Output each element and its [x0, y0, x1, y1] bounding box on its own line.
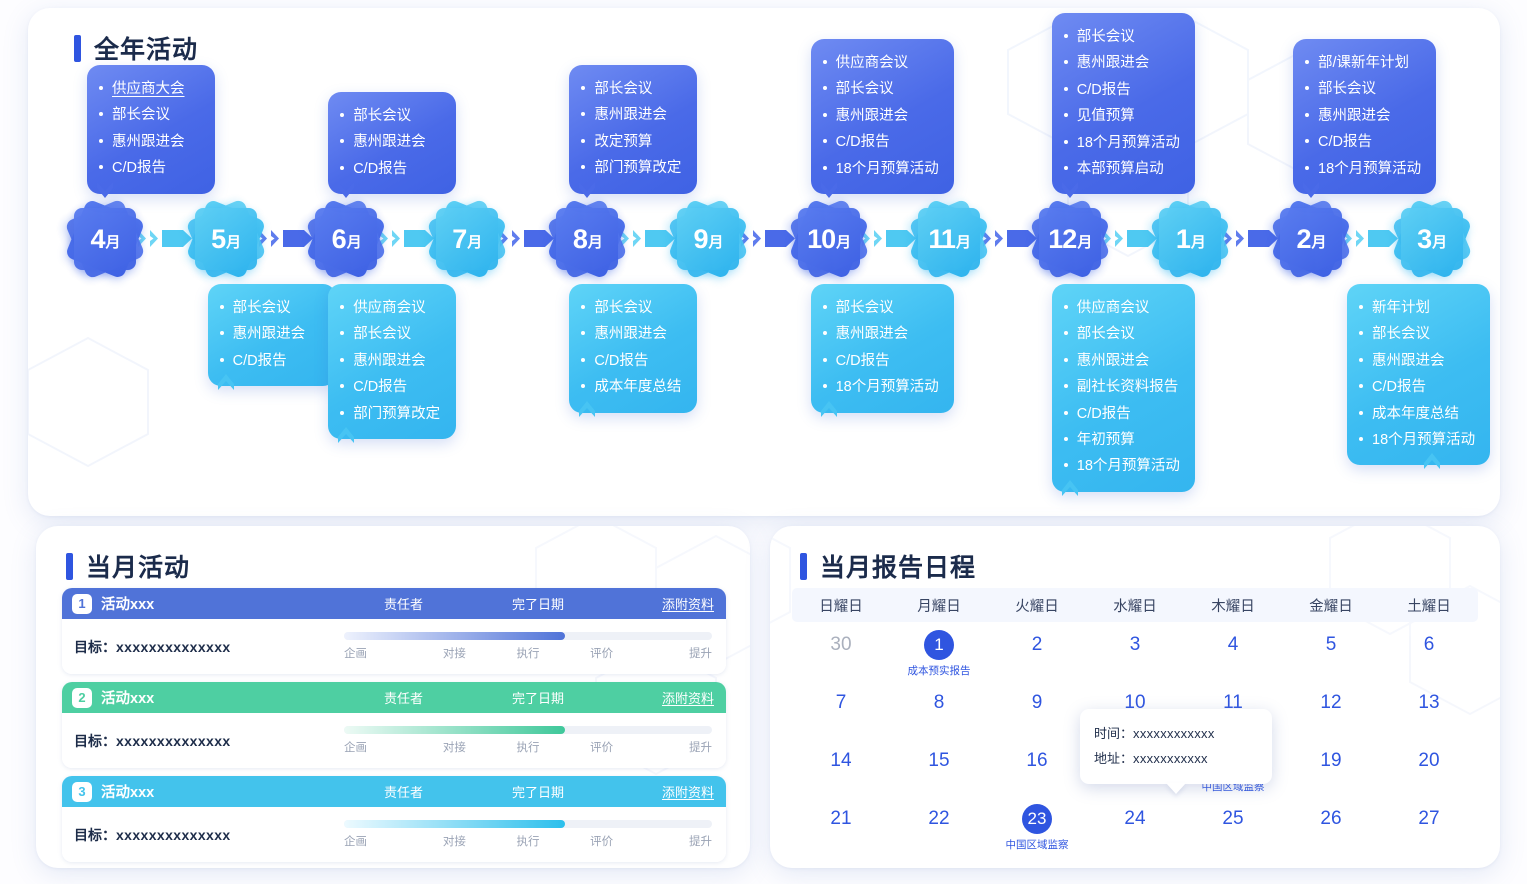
- calendar-day-number: 8: [934, 688, 945, 718]
- calendar-day-number: 9: [1032, 688, 1043, 718]
- timeline-card-item: 部长会议: [820, 76, 939, 102]
- calendar-event-tooltip: 时间：xxxxxxxxxxxx地址：xxxxxxxxxxx: [1080, 709, 1272, 784]
- timeline-card-item: C/D报告: [96, 155, 200, 181]
- calendar-day-cell[interactable]: 24: [1086, 804, 1184, 854]
- badge-month-unit: 月: [1191, 235, 1205, 250]
- timeline-card-item: 惠州跟进会: [1302, 103, 1421, 129]
- badge-month-unit: 月: [467, 235, 481, 250]
- calendar-day-number: 25: [1222, 804, 1243, 834]
- calendar-grid: 301成本预实报告23456789101112131415161718中国区域监…: [792, 630, 1478, 854]
- card-pointer-icon: [1422, 453, 1442, 469]
- progress-fill: [344, 820, 565, 828]
- timeline-month-badge-6[interactable]: 6月: [315, 208, 377, 270]
- timeline-card-item: 部长会议: [1061, 24, 1180, 50]
- activity-row[interactable]: 1活动xxx责任者完了日期添附资料目标：xxxxxxxxxxxxxx企画对接执行…: [62, 588, 726, 674]
- report-calendar-panel: 当月报告日程 日耀日月耀日火耀日水耀日木耀日金耀日土耀日301成本预实报告234…: [770, 526, 1500, 868]
- timeline-card-10-bottom[interactable]: 部长会议惠州跟进会C/D报告18个月预算活动: [811, 284, 954, 413]
- calendar-day-cell[interactable]: 12: [1282, 688, 1380, 738]
- calendar-day-number: 14: [830, 746, 851, 776]
- badge-month-number: 4: [90, 226, 104, 253]
- badge-month-number: 9: [693, 226, 707, 253]
- calendar-day-number: 26: [1320, 804, 1341, 834]
- activity-header: 2活动xxx责任者完了日期添附资料: [62, 682, 726, 713]
- timeline-card-list: 供应商会议部长会议惠州跟进会C/D报告部门预算改定: [337, 295, 441, 427]
- activity-list: 1活动xxx责任者完了日期添附资料目标：xxxxxxxxxxxxxx企画对接执行…: [62, 588, 726, 868]
- timeline-arrow: [1344, 230, 1398, 247]
- timeline-month-badge-4[interactable]: 4月: [74, 208, 136, 270]
- tooltip-tail-icon: [1166, 783, 1186, 794]
- calendar-day-cell[interactable]: 7: [792, 688, 890, 738]
- card-pointer-icon: [95, 182, 115, 198]
- badge-label: 10月: [798, 208, 860, 270]
- timeline-card-item: 见值预算: [1061, 103, 1180, 129]
- month-panel-title-text: 当月活动: [86, 548, 190, 584]
- timeline-card-item: C/D报告: [1356, 374, 1475, 400]
- timeline-card-item: 改定预算: [578, 129, 682, 155]
- calendar-day-number: 19: [1320, 746, 1341, 776]
- weekday-label: 木耀日: [1184, 595, 1282, 616]
- timeline-arrow: [1224, 230, 1278, 247]
- timeline-card-item: 18个月预算活动: [820, 156, 939, 182]
- timeline-arrow: [500, 230, 554, 247]
- timeline-card-10-top[interactable]: 供应商会议部长会议惠州跟进会C/D报告18个月预算活动: [811, 39, 954, 194]
- activity-progress[interactable]: 企画对接执行评价提升: [344, 726, 712, 755]
- title-accent-bar: [800, 553, 807, 580]
- card-pointer-icon: [819, 182, 839, 198]
- card-pointer-icon: [336, 427, 356, 443]
- calendar-day-number: 3: [1130, 630, 1141, 660]
- activity-name: 活动xxx: [101, 781, 154, 802]
- calendar-day-cell[interactable]: 27: [1380, 804, 1478, 854]
- tooltip-address-value: xxxxxxxxxxx: [1133, 746, 1208, 771]
- timeline-month-badge-10[interactable]: 10月: [798, 208, 860, 270]
- timeline-arrow: [621, 230, 675, 247]
- timeline-card-item: 部长会议: [96, 102, 200, 128]
- timeline-month-badge-8[interactable]: 8月: [556, 208, 618, 270]
- calendar-day-cell[interactable]: 4: [1184, 630, 1282, 680]
- timeline-card-8-top[interactable]: 部长会议惠州跟进会改定预算部门预算改定: [569, 65, 697, 194]
- activity-goal: 目标：xxxxxxxxxxxxxx: [74, 731, 231, 751]
- badge-label: 5月: [195, 208, 257, 270]
- calendar-day-number: 7: [836, 688, 847, 718]
- calendar-day-cell[interactable]: 19: [1282, 746, 1380, 796]
- activity-date-column: 完了日期: [512, 594, 662, 613]
- timeline-card-6-bottom[interactable]: 供应商会议部长会议惠州跟进会C/D报告部门预算改定: [328, 284, 456, 439]
- dashboard-root: 全年活动 4月供应商大会部长会议惠州跟进会C/D报告5月部长会议惠州跟进会C/D…: [0, 0, 1527, 884]
- calendar-day-cell[interactable]: 21: [792, 804, 890, 854]
- calendar-day-cell[interactable]: 23中国区域监察: [988, 804, 1086, 854]
- card-pointer-icon: [1060, 182, 1080, 198]
- calendar-day-cell[interactable]: 30: [792, 630, 890, 680]
- calendar-week-row: 212223中国区域监察24252627: [792, 804, 1478, 854]
- badge-month-number: 7: [452, 226, 466, 253]
- card-pointer-icon: [577, 182, 597, 198]
- tooltip-time-value: xxxxxxxxxxxx: [1133, 721, 1215, 746]
- calendar-day-number: 30: [830, 630, 851, 660]
- activity-body: 目标：xxxxxxxxxxxxxx企画对接执行评价提升: [62, 713, 726, 768]
- timeline-card-item: 部长会议: [337, 321, 441, 347]
- timeline-card-item: 惠州跟进会: [820, 321, 939, 347]
- timeline-card-item: 供应商会议: [820, 50, 939, 76]
- timeline-card-item: C/D报告: [578, 348, 682, 374]
- progress-step-label: 评价: [565, 739, 639, 755]
- progress-step-label: 提升: [638, 645, 712, 661]
- timeline-card-list: 新年计划部长会议惠州跟进会C/D报告成本年度总结18个月预算活动: [1356, 295, 1475, 453]
- goal-label: 目标：: [74, 733, 116, 749]
- badge-month-number: 11: [928, 226, 955, 253]
- timeline-card-item: C/D报告: [1061, 401, 1180, 427]
- timeline-card-item: 供应商会议: [1061, 295, 1180, 321]
- badge-label: 6月: [315, 208, 377, 270]
- activity-progress[interactable]: 企画对接执行评价提升: [344, 820, 712, 849]
- timeline-card-item: C/D报告: [217, 348, 321, 374]
- weekday-label: 月耀日: [890, 595, 988, 616]
- timeline-card-2-top[interactable]: 部/课新年计划部长会议惠州跟进会C/D报告18个月预算活动: [1293, 39, 1436, 194]
- timeline-card-item: C/D报告: [1061, 77, 1180, 103]
- activity-goal: 目标：xxxxxxxxxxxxxx: [74, 637, 231, 657]
- badge-label: 8月: [556, 208, 618, 270]
- calendar: 日耀日月耀日火耀日水耀日木耀日金耀日土耀日301成本预实报告2345678910…: [792, 588, 1478, 854]
- timeline-month-badge-1[interactable]: 1月: [1159, 208, 1221, 270]
- activity-body: 目标：xxxxxxxxxxxxxx企画对接执行评价提升: [62, 619, 726, 674]
- calendar-day-cell[interactable]: 16: [988, 746, 1086, 796]
- activity-header: 1活动xxx责任者完了日期添附资料: [62, 588, 726, 619]
- activity-name: 活动xxx: [101, 687, 154, 708]
- timeline-card-item: 部长会议: [1061, 321, 1180, 347]
- timeline-card-item: 部门预算改定: [337, 401, 441, 427]
- tooltip-address-row: 地址：xxxxxxxxxxx: [1094, 746, 1258, 771]
- timeline-card-item: 新年计划: [1356, 295, 1475, 321]
- timeline-card-item: 惠州跟进会: [578, 321, 682, 347]
- timeline-card-item: C/D报告: [820, 129, 939, 155]
- weekday-label: 土耀日: [1380, 595, 1478, 616]
- timeline-card-item: 18个月预算活动: [820, 374, 939, 400]
- card-pointer-icon: [577, 401, 597, 417]
- timeline-card-item: 18个月预算活动: [1061, 130, 1180, 156]
- timeline-card-5-bottom[interactable]: 部长会议惠州跟进会C/D报告: [208, 284, 336, 386]
- weekday-label: 金耀日: [1282, 595, 1380, 616]
- calendar-day-number: 4: [1228, 630, 1239, 660]
- progress-steps: 企画对接执行评价提升: [344, 645, 712, 661]
- activity-index: 2: [72, 688, 92, 708]
- calendar-day-cell[interactable]: 13: [1380, 688, 1478, 738]
- badge-month-unit: 月: [1077, 235, 1091, 250]
- badge-label: 7月: [436, 208, 498, 270]
- activity-body: 目标：xxxxxxxxxxxxxx企画对接执行评价提升: [62, 807, 726, 862]
- timeline-card-item: 部长会议: [820, 295, 939, 321]
- title-accent-bar: [66, 553, 73, 580]
- timeline-month-badge-7[interactable]: 7月: [436, 208, 498, 270]
- badge-month-unit: 月: [709, 235, 723, 250]
- timeline-card-item: 供应商大会: [96, 76, 200, 102]
- calendar-day-number: 22: [928, 804, 949, 834]
- timeline-card-item: 惠州跟进会: [820, 103, 939, 129]
- timeline-card-list: 部长会议惠州跟进会改定预算部门预算改定: [578, 76, 682, 182]
- timeline-card-list: 部长会议惠州跟进会C/D报告: [337, 103, 441, 182]
- timeline-month-badge-12[interactable]: 12月: [1039, 208, 1101, 270]
- calendar-week-row: 301成本预实报告23456: [792, 630, 1478, 680]
- badge-label: 11月: [918, 208, 980, 270]
- badge-month-unit: 月: [588, 235, 602, 250]
- timeline-card-item: 18个月预算活动: [1061, 453, 1180, 479]
- activity-owner-column: 责任者: [384, 688, 512, 707]
- calendar-day-number: 24: [1124, 804, 1145, 834]
- weekday-label: 日耀日: [792, 595, 890, 616]
- timeline-arrow: [1103, 230, 1157, 247]
- timeline-card-item: C/D报告: [337, 374, 441, 400]
- calendar-day-number: 5: [1326, 630, 1337, 660]
- badge-month-number: 2: [1296, 226, 1310, 253]
- calendar-panel-title-text: 当月报告日程: [820, 548, 976, 584]
- timeline-card-list: 供应商大会部长会议惠州跟进会C/D报告: [96, 76, 200, 182]
- badge-month-unit: 月: [956, 235, 970, 250]
- tooltip-time-label: 时间：: [1094, 721, 1133, 746]
- timeline-card-item: 部长会议: [1356, 321, 1475, 347]
- timeline-arrow: [259, 230, 313, 247]
- timeline-card-item: C/D报告: [820, 348, 939, 374]
- badge-label: 12月: [1039, 208, 1101, 270]
- attach-material-link[interactable]: 添附资料: [662, 688, 714, 707]
- timeline-card-6-top[interactable]: 部长会议惠州跟进会C/D报告: [328, 92, 456, 194]
- timeline-card-item: 部长会议: [337, 103, 441, 129]
- badge-month-unit: 月: [1312, 235, 1326, 250]
- progress-track: [344, 820, 712, 828]
- weekday-label: 水耀日: [1086, 595, 1184, 616]
- badge-month-number: 6: [332, 226, 346, 253]
- timeline-card-item: 部门预算改定: [578, 155, 682, 181]
- progress-step-label: 评价: [565, 645, 639, 661]
- badge-label: 4月: [74, 208, 136, 270]
- timeline-card-list: 供应商会议部长会议惠州跟进会副社长资料报告C/D报告年初预算18个月预算活动: [1061, 295, 1180, 480]
- timeline-card-item: 18个月预算活动: [1302, 156, 1421, 182]
- badge-month-unit: 月: [836, 235, 850, 250]
- activity-date-column: 完了日期: [512, 688, 662, 707]
- calendar-day-cell[interactable]: 5: [1282, 630, 1380, 680]
- calendar-day-cell[interactable]: 2: [988, 630, 1086, 680]
- progress-track: [344, 726, 712, 734]
- timeline-month-badge-2[interactable]: 2月: [1280, 208, 1342, 270]
- timeline-card-item: 惠州跟进会: [96, 129, 200, 155]
- badge-label: 9月: [677, 208, 739, 270]
- timeline-card-item: C/D报告: [1302, 129, 1421, 155]
- calendar-day-cell[interactable]: 14: [792, 746, 890, 796]
- timeline-card-item: C/D报告: [337, 156, 441, 182]
- goal-value: xxxxxxxxxxxxxx: [116, 827, 231, 843]
- progress-step-label: 企画: [344, 645, 418, 661]
- timeline-arrow: [983, 230, 1037, 247]
- progress-fill: [344, 726, 565, 734]
- card-pointer-icon: [1060, 480, 1080, 496]
- calendar-day-cell[interactable]: 9: [988, 688, 1086, 738]
- calendar-day-cell[interactable]: 6: [1380, 630, 1478, 680]
- timeline-card-list: 部/课新年计划部长会议惠州跟进会C/D报告18个月预算活动: [1302, 50, 1421, 182]
- tooltip-time-row: 时间：xxxxxxxxxxxx: [1094, 721, 1258, 746]
- activity-index: 1: [72, 594, 92, 614]
- progress-step-label: 执行: [491, 833, 565, 849]
- card-pointer-icon: [1301, 182, 1321, 198]
- calendar-day-event: 成本预实报告: [908, 663, 971, 678]
- timeline-card-item: 部长会议: [578, 76, 682, 102]
- month-panel-title: 当月活动: [66, 548, 190, 584]
- attach-material-link[interactable]: 添附资料: [662, 594, 714, 613]
- badge-month-number: 5: [211, 226, 225, 253]
- timeline-card-item: 惠州跟进会: [1061, 348, 1180, 374]
- timeline-card-item: 部长会议: [1302, 76, 1421, 102]
- timeline-card-item: 副社长资料报告: [1061, 374, 1180, 400]
- badge-month-unit: 月: [1432, 235, 1446, 250]
- timeline-card-list: 部长会议惠州跟进会C/D报告: [217, 295, 321, 374]
- badge-month-number: 10: [807, 226, 835, 253]
- progress-step-label: 对接: [418, 739, 492, 755]
- calendar-day-number: 2: [1032, 630, 1043, 660]
- progress-track: [344, 632, 712, 640]
- calendar-day-number: 15: [928, 746, 949, 776]
- timeline-card-list: 部长会议惠州跟进会C/D报告见值预算18个月预算活动本部预算启动: [1061, 24, 1180, 182]
- calendar-day-number: 6: [1424, 630, 1435, 660]
- timeline-card-item: 本部预算启动: [1061, 156, 1180, 182]
- timeline-card-item: 成本年度总结: [578, 374, 682, 400]
- goal-value: xxxxxxxxxxxxxx: [116, 733, 231, 749]
- badge-month-unit: 月: [106, 235, 120, 250]
- badge-label: 2月: [1280, 208, 1342, 270]
- attach-material-link[interactable]: 添附资料: [662, 782, 714, 801]
- timeline-arrow: [741, 230, 795, 247]
- timeline-card-item: 惠州跟进会: [1356, 348, 1475, 374]
- timeline-card-item: 惠州跟进会: [337, 348, 441, 374]
- calendar-day-cell[interactable]: 8: [890, 688, 988, 738]
- calendar-day-number: 21: [830, 804, 851, 834]
- timeline-card-item: 惠州跟进会: [578, 102, 682, 128]
- calendar-day-number: 16: [1026, 746, 1047, 776]
- timeline-arrow: [380, 230, 434, 247]
- year-activity-panel: 全年活动 4月供应商大会部长会议惠州跟进会C/D报告5月部长会议惠州跟进会C/D…: [28, 8, 1500, 516]
- activity-date-column: 完了日期: [512, 782, 662, 801]
- calendar-day-cell[interactable]: 3: [1086, 630, 1184, 680]
- activity-row[interactable]: 3活动xxx责任者完了日期添附资料目标：xxxxxxxxxxxxxx企画对接执行…: [62, 776, 726, 862]
- activity-goal: 目标：xxxxxxxxxxxxxx: [74, 825, 231, 845]
- progress-step-label: 执行: [491, 645, 565, 661]
- card-pointer-icon: [336, 182, 356, 198]
- goal-label: 目标：: [74, 639, 116, 655]
- activity-name: 活动xxx: [101, 593, 154, 614]
- card-pointer-icon: [216, 374, 236, 390]
- timeline-card-item: 供应商会议: [337, 295, 441, 321]
- calendar-day-cell[interactable]: 15: [890, 746, 988, 796]
- progress-steps: 企画对接执行评价提升: [344, 833, 712, 849]
- calendar-day-event: 中国区域监察: [1006, 837, 1069, 852]
- calendar-day-number: 13: [1418, 688, 1439, 718]
- progress-step-label: 对接: [418, 833, 492, 849]
- timeline-card-item: 惠州跟进会: [337, 129, 441, 155]
- timeline-month-badge-5[interactable]: 5月: [195, 208, 257, 270]
- badge-month-number: 3: [1417, 226, 1431, 253]
- timeline-card-list: 部长会议惠州跟进会C/D报告18个月预算活动: [820, 295, 939, 401]
- timeline-month-badge-3[interactable]: 3月: [1401, 208, 1463, 270]
- calendar-weekday-header: 日耀日月耀日火耀日水耀日木耀日金耀日土耀日: [792, 588, 1478, 622]
- month-activity-panel: 当月活动 1活动xxx责任者完了日期添附资料目标：xxxxxxxxxxxxxx企…: [36, 526, 750, 868]
- timeline-card-item: 18个月预算活动: [1356, 427, 1475, 453]
- badge-month-unit: 月: [347, 235, 361, 250]
- progress-step-label: 执行: [491, 739, 565, 755]
- activity-owner-column: 责任者: [384, 594, 512, 613]
- calendar-day-cell[interactable]: 25: [1184, 804, 1282, 854]
- timeline-card-item: 成本年度总结: [1356, 401, 1475, 427]
- timeline-card-item: 年初预算: [1061, 427, 1180, 453]
- activity-row[interactable]: 2活动xxx责任者完了日期添附资料目标：xxxxxxxxxxxxxx企画对接执行…: [62, 682, 726, 768]
- calendar-day-cell[interactable]: 22: [890, 804, 988, 854]
- progress-step-label: 评价: [565, 833, 639, 849]
- timeline-month-badge-9[interactable]: 9月: [677, 208, 739, 270]
- calendar-day-number: 23: [1022, 804, 1052, 834]
- calendar-day-number: 27: [1418, 804, 1439, 834]
- timeline-card-list: 供应商会议部长会议惠州跟进会C/D报告18个月预算活动: [820, 50, 939, 182]
- timeline-card-4-top[interactable]: 供应商大会部长会议惠州跟进会C/D报告: [87, 65, 215, 194]
- timeline-card-8-bottom[interactable]: 部长会议惠州跟进会C/D报告成本年度总结: [569, 284, 697, 413]
- calendar-day-cell[interactable]: 26: [1282, 804, 1380, 854]
- timeline-card-item: 惠州跟进会: [217, 321, 321, 347]
- timeline-card-3-bottom[interactable]: 新年计划部长会议惠州跟进会C/D报告成本年度总结18个月预算活动: [1347, 284, 1490, 465]
- activity-header: 3活动xxx责任者完了日期添附资料: [62, 776, 726, 807]
- activity-progress[interactable]: 企画对接执行评价提升: [344, 632, 712, 661]
- activity-owner-column: 责任者: [384, 782, 512, 801]
- timeline-card-item: 惠州跟进会: [1061, 50, 1180, 76]
- progress-step-label: 提升: [638, 833, 712, 849]
- badge-label: 1月: [1159, 208, 1221, 270]
- badge-label: 3月: [1401, 208, 1463, 270]
- calendar-day-number: 12: [1320, 688, 1341, 718]
- progress-step-label: 企画: [344, 833, 418, 849]
- badge-month-number: 1: [1176, 226, 1190, 253]
- badge-month-number: 8: [573, 226, 587, 253]
- timeline-card-item: 部/课新年计划: [1302, 50, 1421, 76]
- goal-label: 目标：: [74, 827, 116, 843]
- weekday-label: 火耀日: [988, 595, 1086, 616]
- timeline-card-item: 部长会议: [217, 295, 321, 321]
- year-timeline: 4月供应商大会部长会议惠州跟进会C/D报告5月部长会议惠州跟进会C/D报告6月部…: [28, 8, 1500, 516]
- badge-month-number: 12: [1048, 226, 1076, 253]
- tooltip-address-label: 地址：: [1094, 746, 1133, 771]
- timeline-arrow: [862, 230, 916, 247]
- progress-step-label: 提升: [638, 739, 712, 755]
- calendar-day-number: 20: [1418, 746, 1439, 776]
- progress-step-label: 企画: [344, 739, 418, 755]
- progress-step-label: 对接: [418, 645, 492, 661]
- progress-steps: 企画对接执行评价提升: [344, 739, 712, 755]
- calendar-day-cell[interactable]: 1成本预实报告: [890, 630, 988, 680]
- calendar-panel-title: 当月报告日程: [800, 548, 976, 584]
- timeline-card-12-bottom[interactable]: 供应商会议部长会议惠州跟进会副社长资料报告C/D报告年初预算18个月预算活动: [1052, 284, 1195, 492]
- calendar-day-cell[interactable]: 20: [1380, 746, 1478, 796]
- timeline-card-list: 部长会议惠州跟进会C/D报告成本年度总结: [578, 295, 682, 401]
- goal-value: xxxxxxxxxxxxxx: [116, 639, 231, 655]
- timeline-month-badge-11[interactable]: 11月: [918, 208, 980, 270]
- activity-index: 3: [72, 782, 92, 802]
- timeline-card-item: 部长会议: [578, 295, 682, 321]
- timeline-arrow: [138, 230, 192, 247]
- card-pointer-icon: [819, 401, 839, 417]
- calendar-day-number: 1: [924, 630, 954, 660]
- timeline-card-12-top[interactable]: 部长会议惠州跟进会C/D报告见值预算18个月预算活动本部预算启动: [1052, 13, 1195, 194]
- badge-month-unit: 月: [226, 235, 240, 250]
- progress-fill: [344, 632, 565, 640]
